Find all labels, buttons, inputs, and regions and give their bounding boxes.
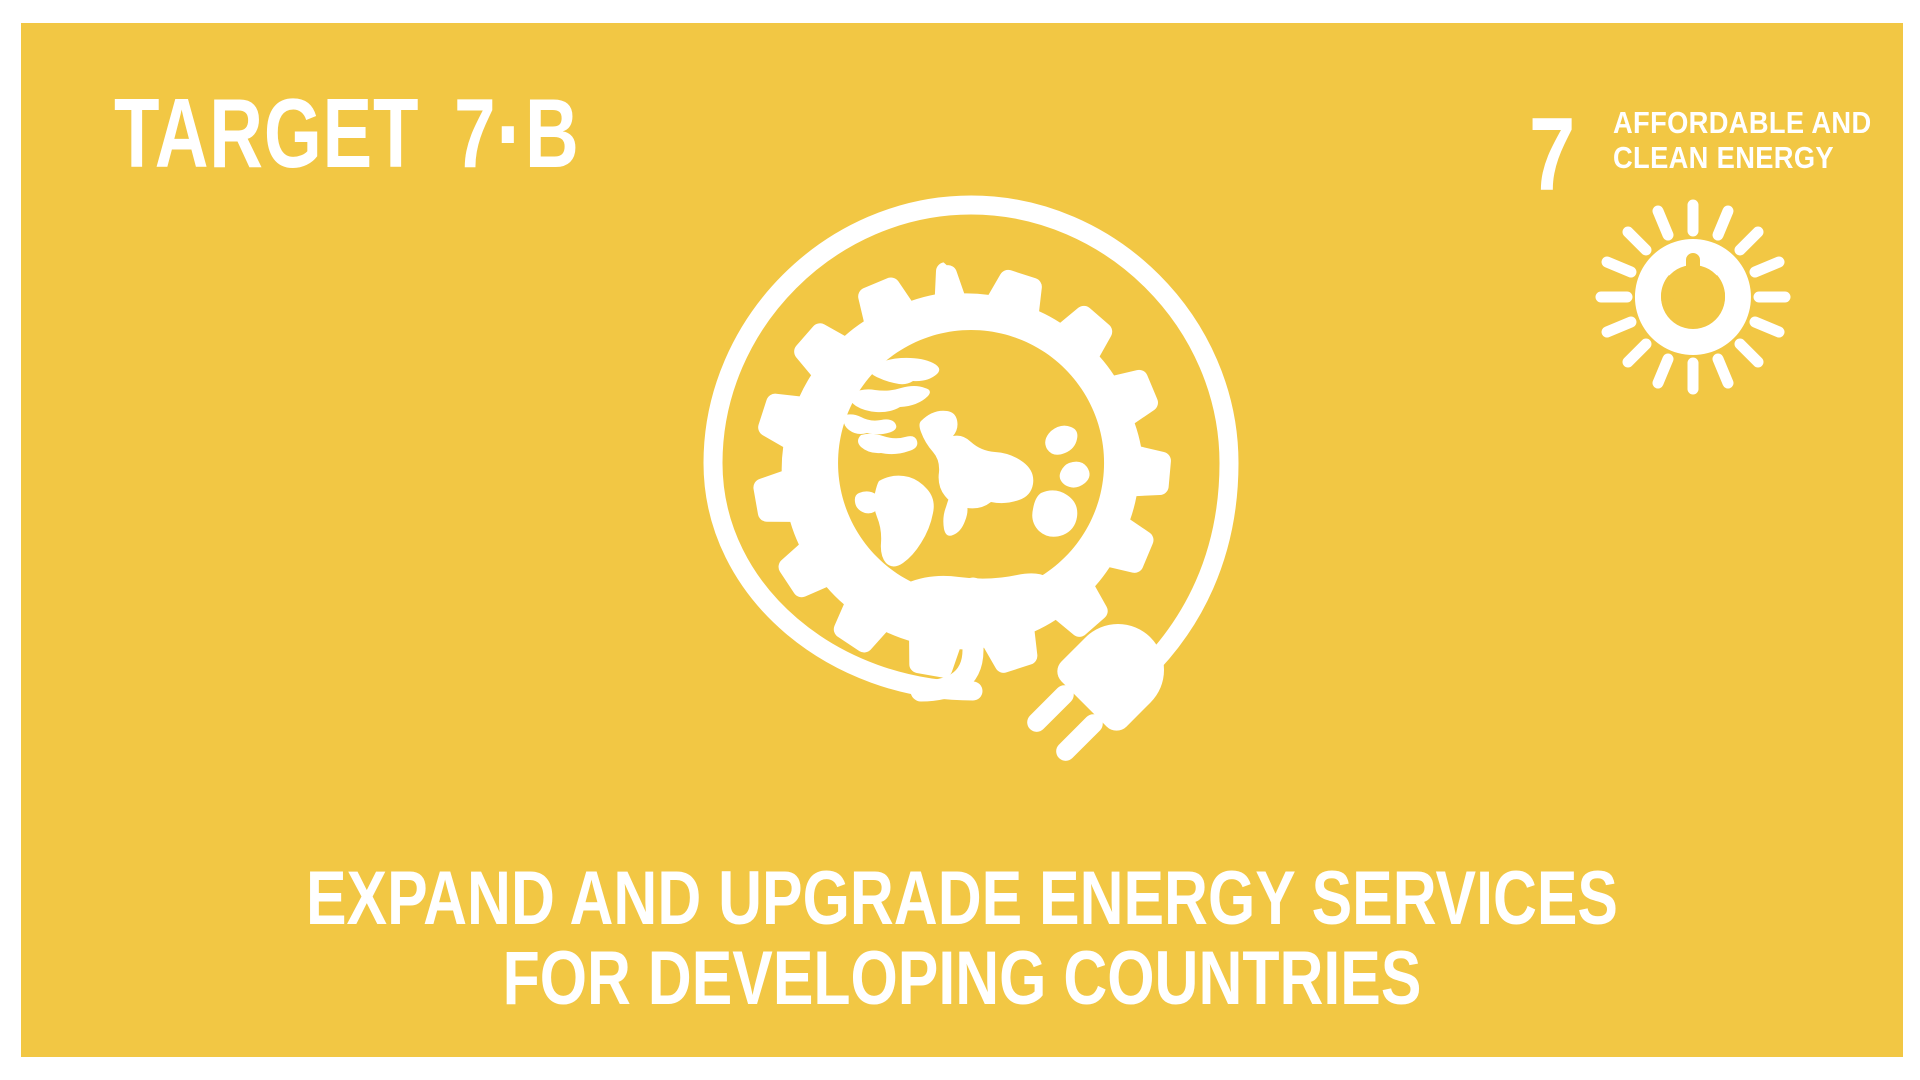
continent-asia-inner [953, 459, 983, 482]
sun-ray-nw [1628, 232, 1646, 250]
electric-plug [1012, 605, 1183, 776]
continent-australia [1032, 490, 1077, 536]
sun-ray-wsw [1607, 322, 1631, 332]
title-number: 7 [454, 78, 496, 188]
plug-prong-right [1052, 710, 1106, 764]
continent-india [943, 493, 967, 536]
continent-mediterranean [858, 434, 917, 454]
continent-africa [874, 476, 934, 567]
continent-indonesia [1060, 462, 1090, 488]
goal-badge: 7 AFFORDABLE AND CLEAN ENERGY [1521, 75, 1851, 405]
sun-ray-ssw [1658, 359, 1668, 383]
page-title: TARGET7·B [114, 84, 580, 182]
sun-ray-sse [1718, 359, 1728, 383]
sdg-target-poster: TARGET7·B 7 AFFORDABLE AND CLEAN ENERGY [21, 23, 1903, 1057]
continent-europe-north [851, 386, 930, 412]
title-prefix: TARGET [114, 78, 419, 188]
sun-ray-ene [1755, 262, 1779, 272]
power-symbol-bar [1686, 253, 1700, 297]
goal-number: 7 [1529, 103, 1575, 207]
sun-power-icon [1593, 197, 1793, 397]
continent-europe-west [844, 414, 897, 434]
goal-label-line2: CLEAN ENERGY [1613, 140, 1824, 175]
sun-ray-sw [1628, 344, 1646, 362]
gear-globe-plug-icon [621, 163, 1321, 853]
title-letter: B [525, 78, 580, 188]
caption-line-1: EXPAND AND UPGRADE ENERGY SERVICES [209, 859, 1715, 939]
plug-prong-left [1023, 681, 1077, 735]
sun-ray-nne [1718, 211, 1728, 235]
continent-southeast-asia [1045, 426, 1077, 455]
sun-ray-nnw [1658, 211, 1668, 235]
caption: EXPAND AND UPGRADE ENERGY SERVICES FOR D… [21, 859, 1903, 1019]
caption-line-2: FOR DEVELOPING COUNTRIES [209, 939, 1715, 1019]
goal-label-line1: AFFORDABLE AND [1613, 105, 1824, 140]
sun-ray-ese [1755, 322, 1779, 332]
sun-ray-wnw [1607, 262, 1631, 272]
goal-label: AFFORDABLE AND CLEAN ENERGY [1613, 105, 1824, 175]
sun-ray-ne [1740, 232, 1758, 250]
sun-ray-se [1740, 344, 1758, 362]
title-separator-dot: · [494, 77, 527, 190]
continent-asia [920, 411, 1034, 509]
